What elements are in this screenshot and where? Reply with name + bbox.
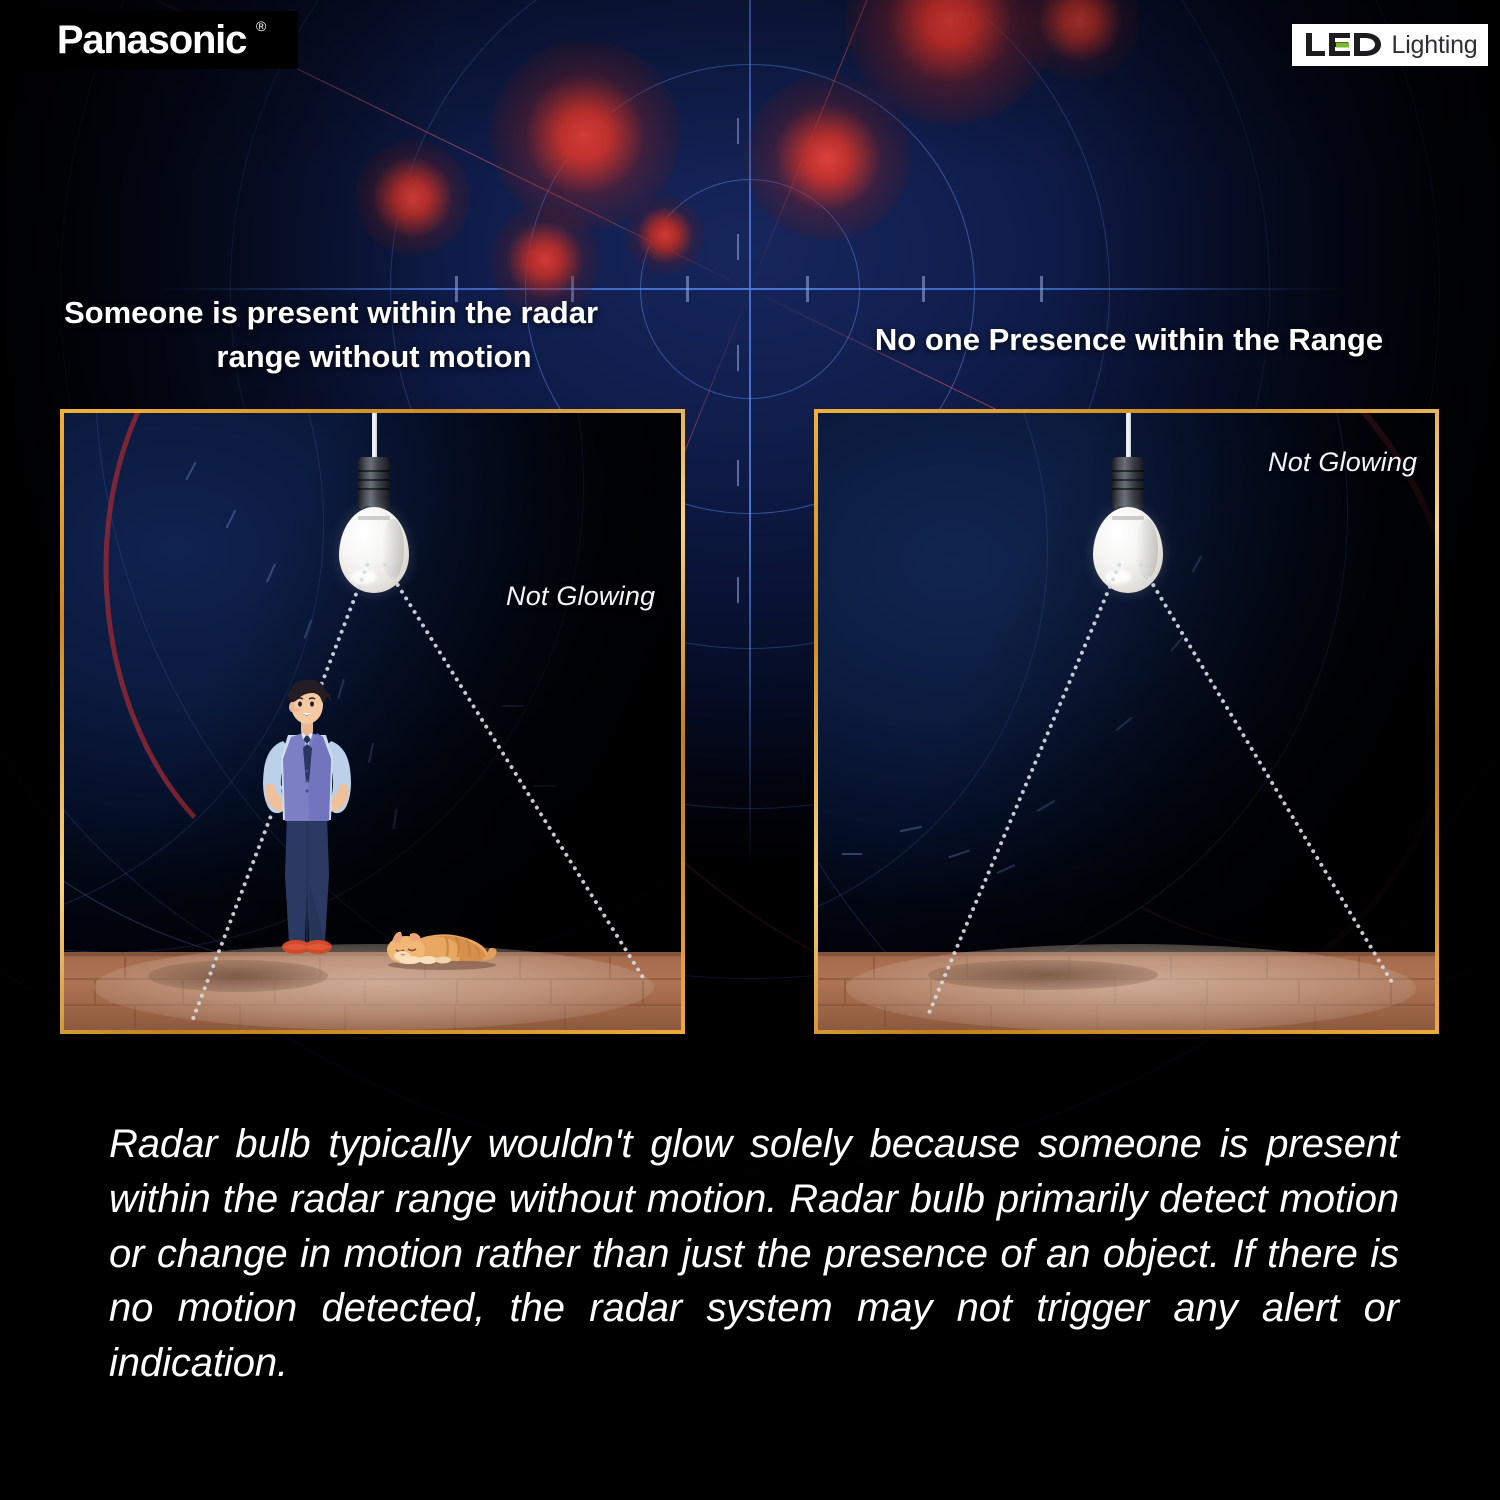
right-panel-scene: Not Glowing: [818, 413, 1435, 1030]
panasonic-wordmark: Panasonic: [57, 18, 246, 62]
bulb-cord: [372, 413, 377, 461]
left-panel[interactable]: Not Glowing: [60, 409, 685, 1034]
heading-right: No one Presence within the Range: [818, 318, 1440, 362]
registered-trademark-icon: ®: [256, 19, 265, 33]
status-label-left: Not Glowing: [506, 581, 655, 612]
led-mark-icon: [1303, 31, 1383, 59]
floor-shadow: [928, 960, 1158, 990]
left-panel-scene: Not Glowing: [64, 413, 681, 1030]
led-lighting-word: Lighting: [1392, 31, 1478, 60]
floor-light-pool: [846, 944, 1416, 1030]
led-lighting-logo: Lighting: [1292, 24, 1488, 66]
floor: [64, 952, 681, 1030]
heading-left: Someone is present within the radar rang…: [64, 291, 684, 379]
heading-left-line1: Someone is present within the radar: [64, 291, 684, 335]
infographic-canvas: Panasonic ® Lighting Someone is present …: [0, 0, 1500, 1500]
panasonic-logo: Panasonic ®: [8, 11, 298, 69]
bulb-globe: [339, 507, 409, 593]
standing-man-illustration: [247, 675, 367, 975]
sleeping-cat-illustration: [380, 924, 500, 970]
bulb-socket: [358, 457, 390, 509]
caption-paragraph: Radar bulb typically wouldn't glow solel…: [109, 1117, 1399, 1391]
right-panel[interactable]: Not Glowing: [814, 409, 1439, 1034]
bulb-brand-text: [1112, 516, 1144, 520]
status-label-right: Not Glowing: [1268, 447, 1417, 478]
bulb-brand-text: [358, 516, 390, 520]
heading-left-line2: range without motion: [64, 335, 684, 379]
floor: [818, 952, 1435, 1030]
bulb-socket: [1112, 457, 1144, 509]
bulb-cord: [1126, 413, 1131, 461]
